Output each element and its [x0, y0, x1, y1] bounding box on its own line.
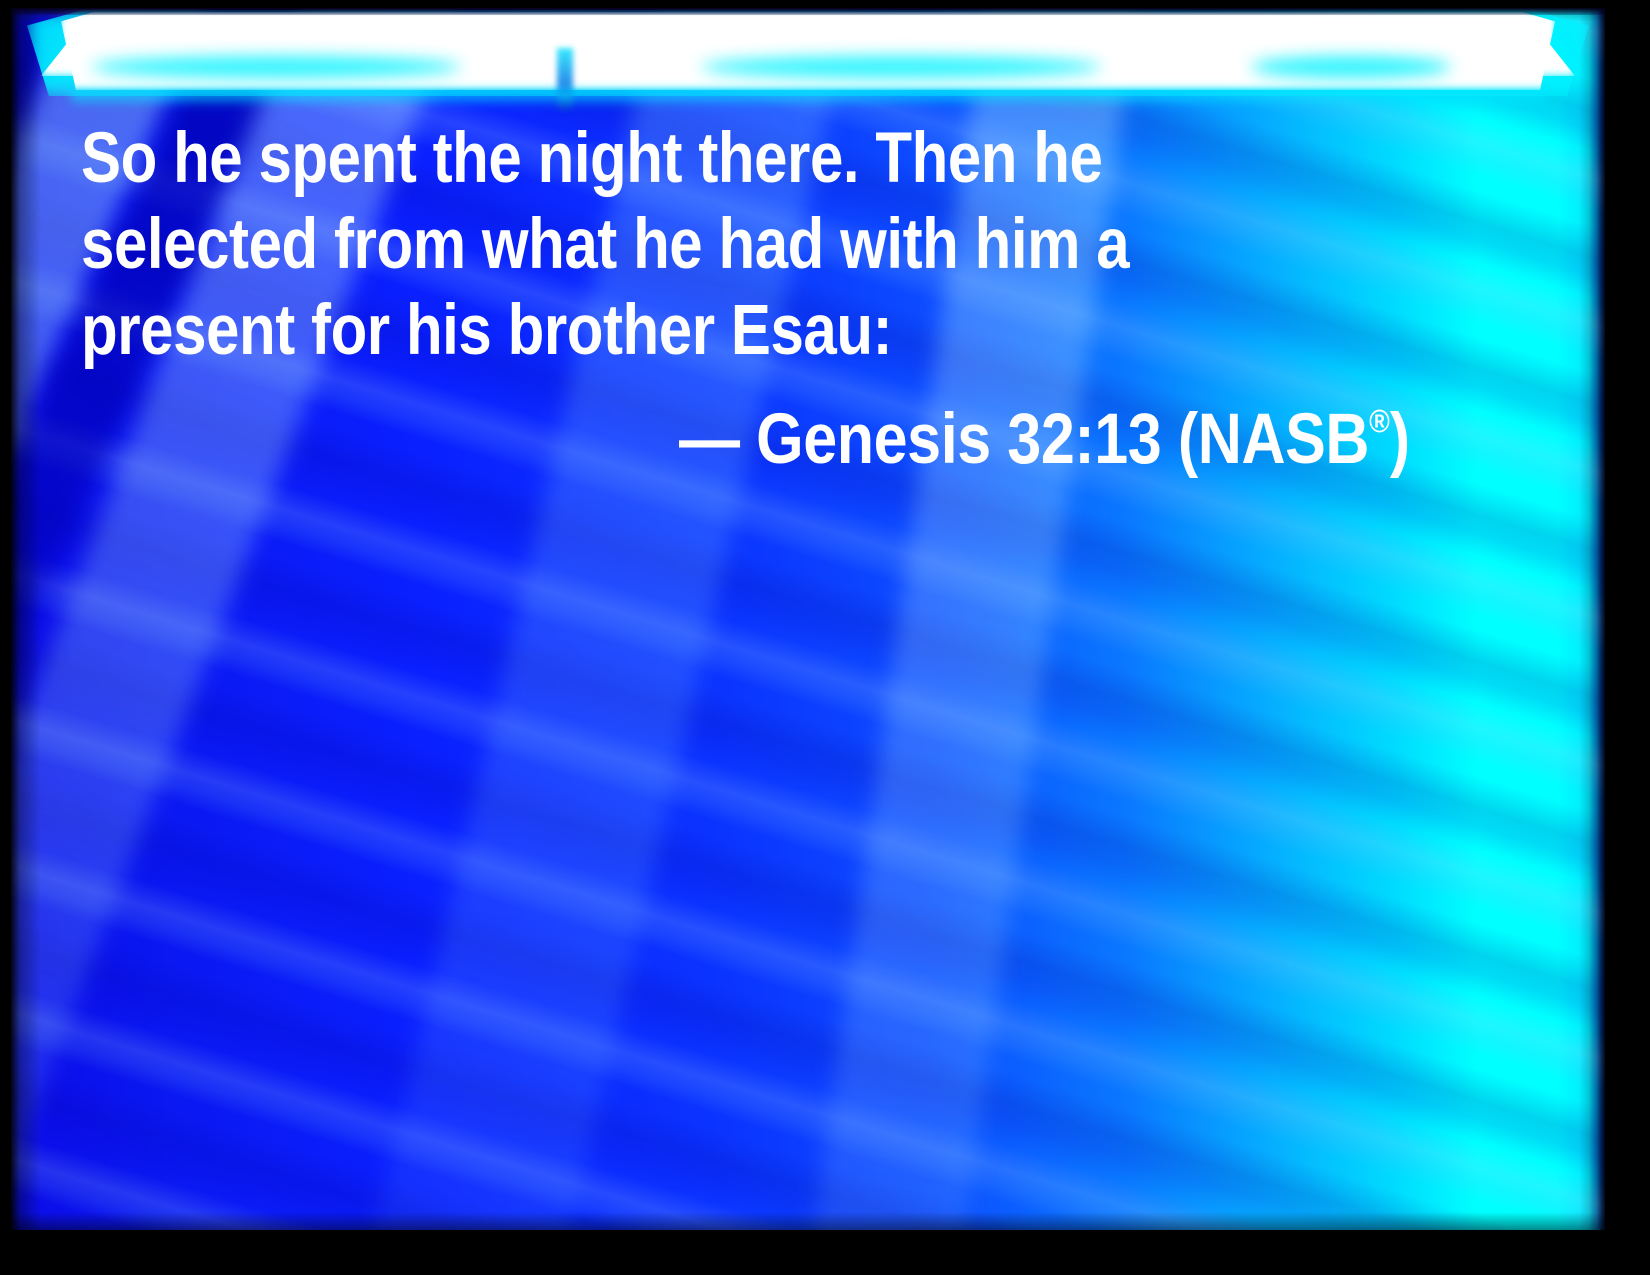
slide-canvas: So he spent the night there. Then he sel…	[11, 8, 1605, 1230]
background-vignette	[11, 8, 1605, 1230]
slide-frame: So he spent the night there. Then he sel…	[0, 0, 1650, 1275]
